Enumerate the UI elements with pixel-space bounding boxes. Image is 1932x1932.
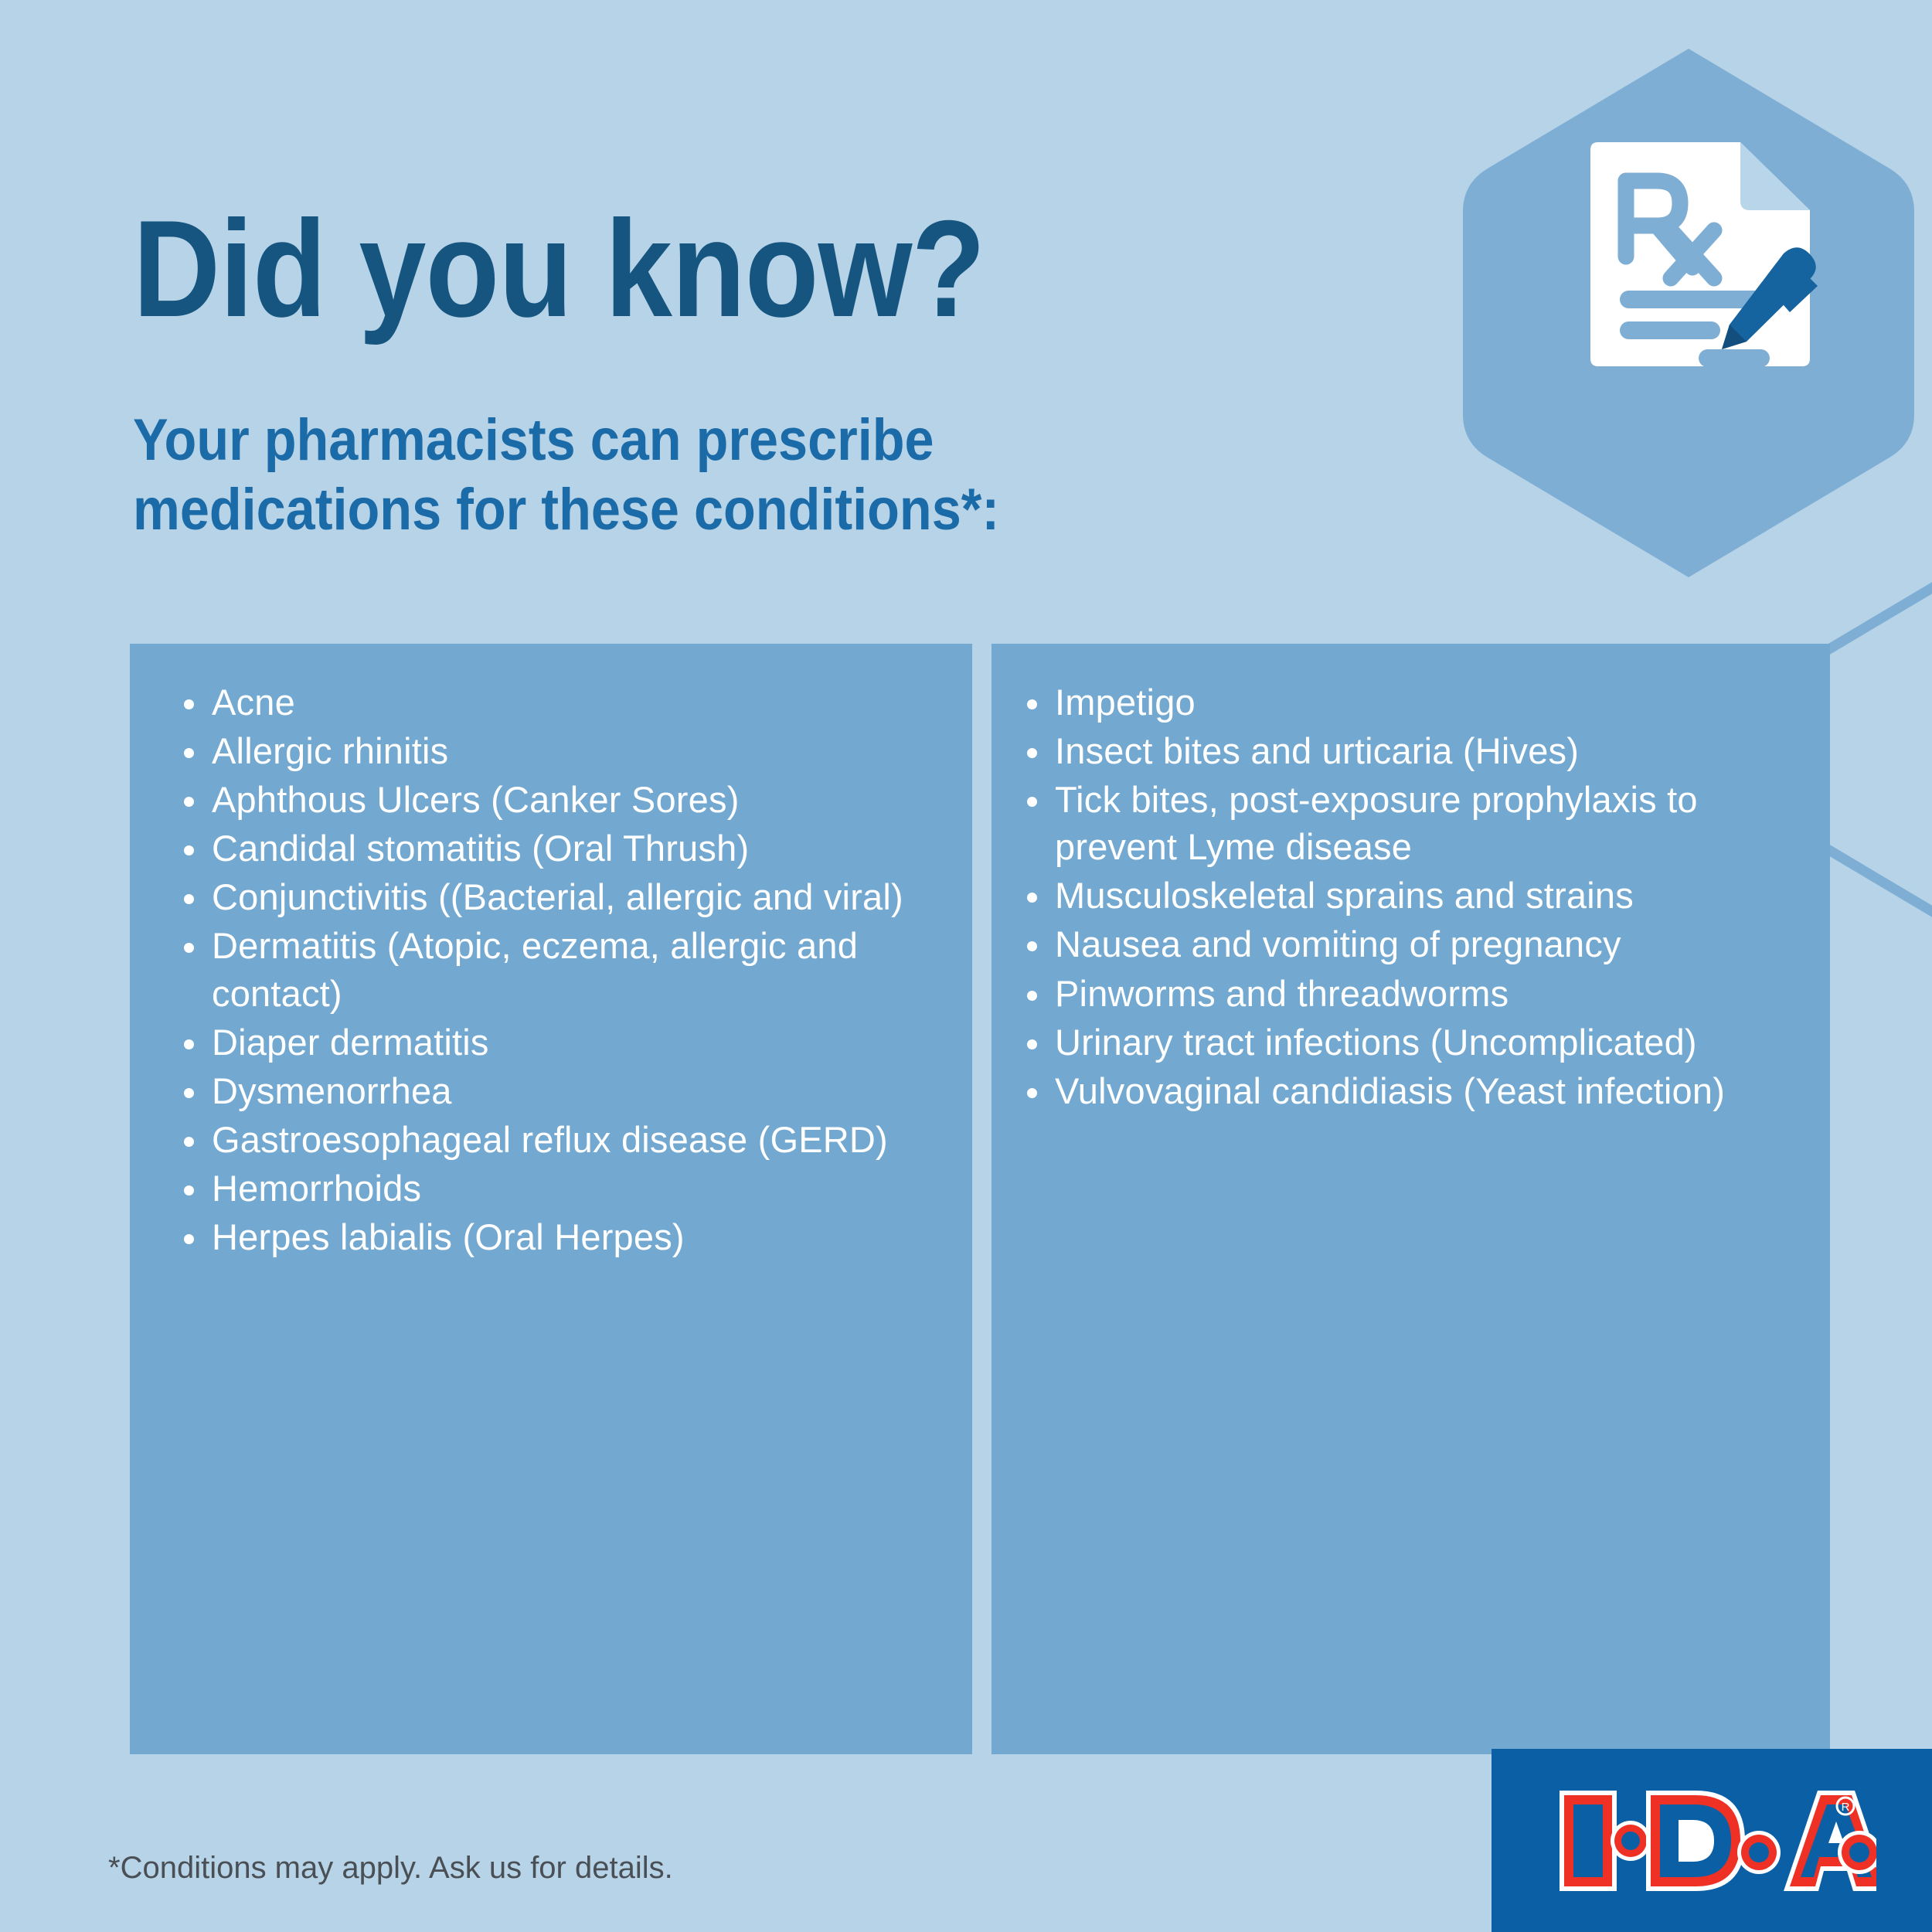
prescription-document-with-pen-icon: [1577, 139, 1824, 386]
list-item: Dysmenorrhea: [153, 1067, 949, 1114]
ida-logo-block: R: [1492, 1749, 1932, 1932]
conditions-panel-left: Acne Allergic rhinitis Aphthous Ulcers (…: [130, 644, 972, 1754]
list-item: Allergic rhinitis: [153, 727, 949, 774]
subtitle: Your pharmacists can prescribe medicatio…: [133, 406, 999, 544]
conditions-list-left: Acne Allergic rhinitis Aphthous Ulcers (…: [153, 679, 949, 1260]
subtitle-line-2: medications for these conditions*:: [133, 475, 999, 545]
subtitle-line-1: Your pharmacists can prescribe: [133, 406, 999, 475]
conditions-list-right: Impetigo Insect bites and urticaria (Hiv…: [1015, 679, 1807, 1114]
list-item: Candidal stomatitis (Oral Thrush): [153, 825, 949, 872]
list-item: Pinworms and threadworms: [1015, 970, 1807, 1017]
list-item: Aphthous Ulcers (Canker Sores): [153, 776, 949, 823]
list-item: Musculoskeletal sprains and strains: [1015, 872, 1807, 919]
list-item: Dermatitis (Atopic, eczema, allergic and…: [153, 922, 949, 1016]
list-item: Herpes labialis (Oral Herpes): [153, 1213, 949, 1260]
list-item: Nausea and vomiting of pregnancy: [1015, 920, 1807, 968]
list-item: Insect bites and urticaria (Hives): [1015, 727, 1807, 774]
ida-logo-icon: R: [1552, 1783, 1876, 1899]
list-item: Impetigo: [1015, 679, 1807, 726]
infographic-poster: Did you know? Your pharmacists can presc…: [0, 0, 1932, 1932]
list-item: Vulvovaginal candidiasis (Yeast infectio…: [1015, 1067, 1807, 1114]
list-item: Diaper dermatitis: [153, 1019, 949, 1066]
list-item: Gastroesophageal reflux disease (GERD): [153, 1116, 949, 1163]
list-item: Acne: [153, 679, 949, 726]
conditions-panel-right: Impetigo Insect bites and urticaria (Hiv…: [992, 644, 1830, 1754]
list-item: Hemorrhoids: [153, 1165, 949, 1212]
page-title: Did you know?: [133, 200, 985, 338]
footnote-disclaimer: *Conditions may apply. Ask us for detail…: [108, 1851, 673, 1886]
svg-text:R: R: [1842, 1801, 1850, 1814]
list-item: Urinary tract infections (Uncomplicated): [1015, 1019, 1807, 1066]
list-item: Conjunctivitis ((Bacterial, allergic and…: [153, 873, 949, 920]
list-item: Tick bites, post-exposure prophylaxis to…: [1015, 776, 1807, 870]
